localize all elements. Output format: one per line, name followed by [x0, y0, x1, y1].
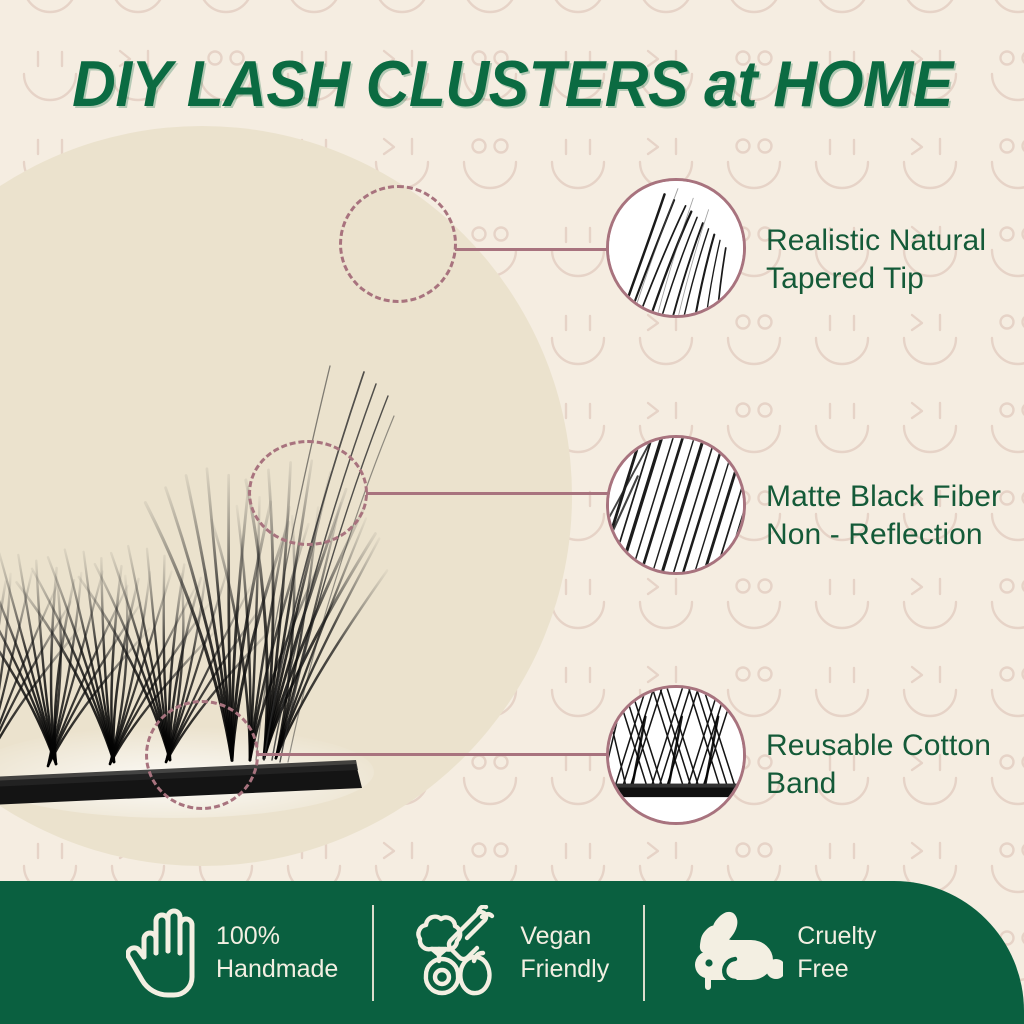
- badge-label-cruelty-free: Cruelty Free: [797, 920, 876, 986]
- rabbit-icon: [679, 907, 783, 999]
- connector-cotton-band: [257, 753, 614, 756]
- detail-circle-matte-black-fiber: [606, 435, 746, 575]
- callout-label-tapered-tip: Realistic Natural Tapered Tip: [766, 222, 1016, 299]
- page-title-wrap: DIY LASH CLUSTERS at HOME: [0, 46, 1024, 121]
- callout-label-cotton-band: Reusable Cotton Band: [766, 727, 1016, 804]
- badge-label-handmade: 100% Handmade: [216, 920, 338, 986]
- connector-matte-black-fiber: [366, 492, 614, 495]
- feature-banner: 100% Handmade: [0, 881, 1024, 1024]
- badge-label-vegan: Vegan Friendly: [520, 920, 609, 986]
- callout-label-matte-black-fiber: Matte Black Fiber Non - Reflection: [766, 478, 1022, 555]
- page-title: DIY LASH CLUSTERS at HOME: [72, 46, 953, 121]
- marker-tapered-tip: [339, 185, 457, 303]
- badge-divider-1: [372, 905, 374, 1001]
- badge-handmade: 100% Handmade: [126, 905, 338, 1001]
- badge-cruelty-free: Cruelty Free: [679, 907, 876, 999]
- vegetables-icon: [408, 905, 506, 1001]
- marker-matte-black-fiber: [248, 440, 368, 546]
- badge-vegan: Vegan Friendly: [408, 905, 609, 1001]
- detail-circle-cotton-band: [606, 685, 746, 825]
- connector-tapered-tip: [455, 248, 613, 251]
- badge-divider-2: [643, 905, 645, 1001]
- detail-circle-tapered-tip: [606, 178, 746, 318]
- hand-icon: [126, 905, 202, 1001]
- infographic-canvas: Realistic Natural Tapered Tip: [0, 0, 1024, 1024]
- marker-cotton-band: [145, 700, 259, 810]
